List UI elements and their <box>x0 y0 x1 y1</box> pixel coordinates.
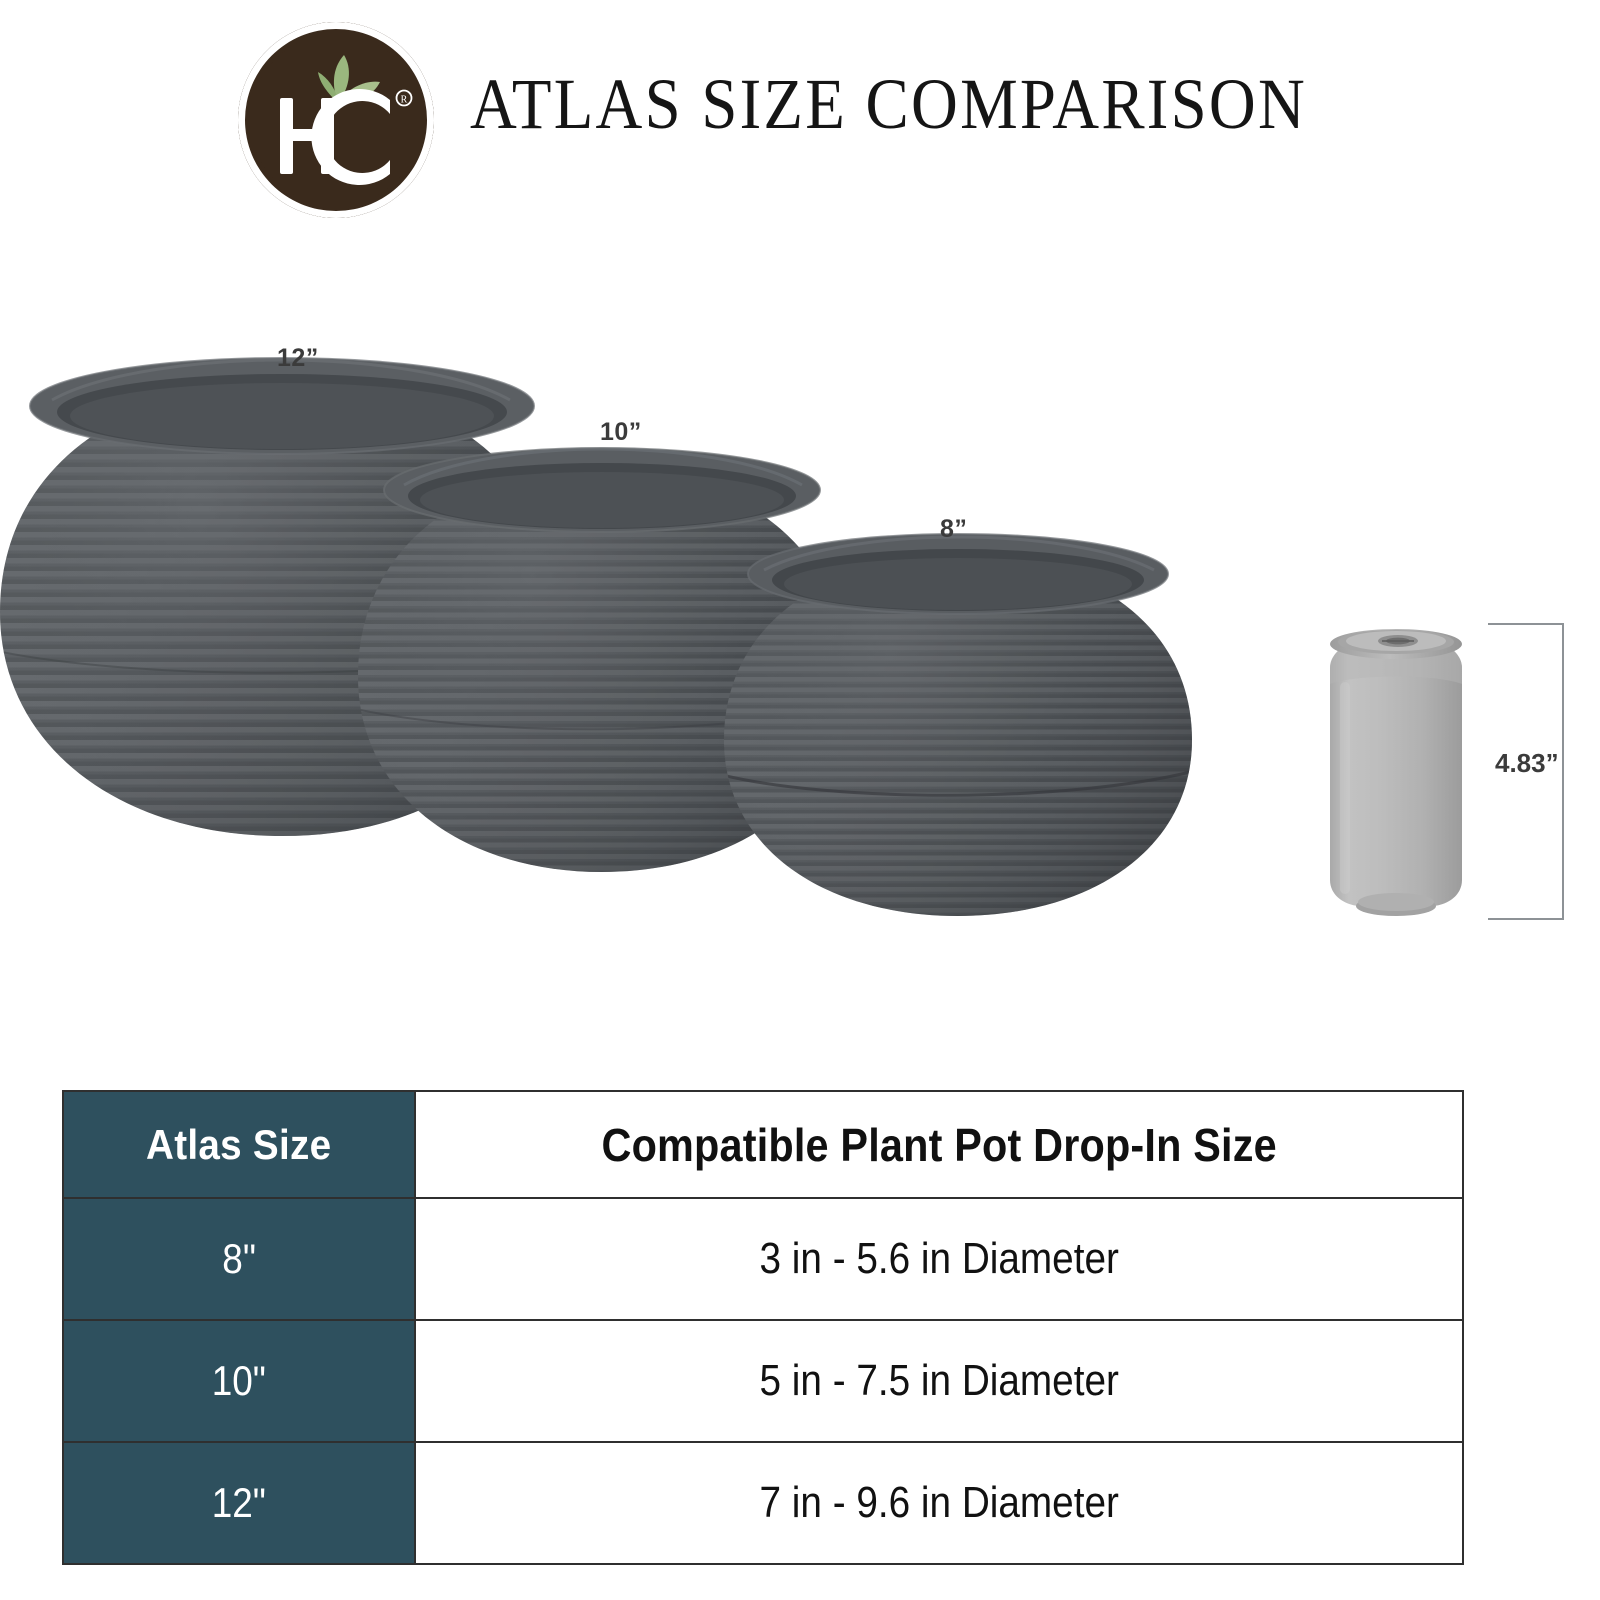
table-header-atlas-size-label: Atlas Size <box>146 1121 331 1169</box>
table-cell-compatible: 3 in - 5.6 in Diameter <box>415 1198 1463 1320</box>
size-label-10: 10” <box>600 418 642 447</box>
soda-can <box>1316 622 1476 922</box>
page-title: ATLAS SIZE COMPARISON <box>470 62 1352 146</box>
table-row: 12" 7 in - 9.6 in Diameter <box>63 1442 1463 1564</box>
hc-logo-mark: R <box>238 22 434 218</box>
table-cell-compatible-label: 5 in - 7.5 in Diameter <box>759 1356 1118 1406</box>
size-label-8: 8” <box>940 515 967 544</box>
dimension-tick-top <box>1488 623 1564 625</box>
table-header-atlas-size: Atlas Size <box>63 1091 415 1198</box>
table-cell-compatible: 5 in - 7.5 in Diameter <box>415 1320 1463 1442</box>
table-cell-size-label: 10" <box>212 1357 266 1405</box>
table-row: 8" 3 in - 5.6 in Diameter <box>63 1198 1463 1320</box>
table-cell-size: 8" <box>63 1198 415 1320</box>
table-cell-compatible-label: 7 in - 9.6 in Diameter <box>759 1478 1118 1528</box>
dimension-vertical-line <box>1562 623 1564 920</box>
table-cell-compatible: 7 in - 9.6 in Diameter <box>415 1442 1463 1564</box>
table-row: 10" 5 in - 7.5 in Diameter <box>63 1320 1463 1442</box>
registered-trademark: R <box>397 91 412 106</box>
size-spec-table: Atlas Size Compatible Plant Pot Drop-In … <box>62 1090 1464 1565</box>
product-comparison-scene: 12” <box>0 240 1600 1070</box>
table-cell-size-label: 12" <box>212 1479 266 1527</box>
can-height-label: 4.83” <box>1495 748 1559 779</box>
table-cell-size: 10" <box>63 1320 415 1442</box>
svg-text:R: R <box>401 95 408 106</box>
table-cell-size-label: 8" <box>222 1235 256 1283</box>
size-label-12: 12” <box>277 344 319 373</box>
planter-8-inch <box>718 530 1198 930</box>
table-header-compatible-size: Compatible Plant Pot Drop-In Size <box>415 1091 1463 1198</box>
page-header: R ATLAS SIZE COMPARISON <box>0 0 1600 240</box>
table-header-row: Atlas Size Compatible Plant Pot Drop-In … <box>63 1091 1463 1198</box>
table-cell-size: 12" <box>63 1442 415 1564</box>
dimension-tick-bottom <box>1488 918 1564 920</box>
hc-logo: R <box>238 22 434 218</box>
table-cell-compatible-label: 3 in - 5.6 in Diameter <box>759 1234 1118 1284</box>
table-header-compatible-size-label: Compatible Plant Pot Drop-In Size <box>601 1118 1276 1172</box>
